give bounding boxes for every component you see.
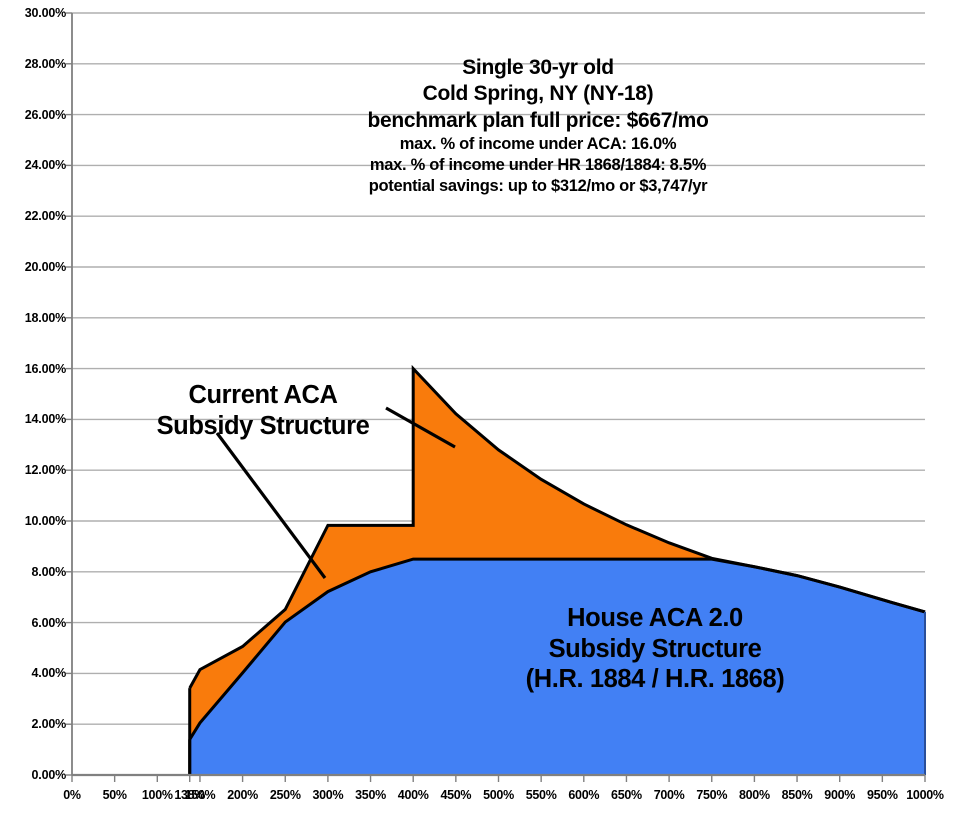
y-tick-label: 24.00%	[4, 159, 66, 172]
chart-title-line: potential savings: up to $312/mo or $3,7…	[238, 176, 838, 197]
x-tick-label: 800%	[739, 789, 770, 802]
x-tick-label: 100%	[142, 789, 173, 802]
x-tick-label: 300%	[313, 789, 344, 802]
x-tick-label: 900%	[824, 789, 855, 802]
y-tick-label: 6.00%	[4, 617, 66, 630]
x-tick-label: 200%	[227, 789, 258, 802]
y-tick-label: 28.00%	[4, 58, 66, 71]
x-tick-label: 1000%	[906, 789, 943, 802]
chart-title-line: Cold Spring, NY (NY-18)	[238, 81, 838, 107]
chart-container: 0.00%2.00%4.00%6.00%8.00%10.00%12.00%14.…	[0, 0, 954, 816]
y-tick-label: 10.00%	[4, 515, 66, 528]
y-tick-label: 22.00%	[4, 210, 66, 223]
y-tick-label: 18.00%	[4, 312, 66, 325]
x-tick-label: 650%	[611, 789, 642, 802]
chart-title-line: Single 30-yr old	[238, 55, 838, 81]
y-tick-label: 12.00%	[4, 464, 66, 477]
y-tick-label: 2.00%	[4, 718, 66, 731]
x-tick-label: 950%	[867, 789, 898, 802]
x-tick-label: 500%	[483, 789, 514, 802]
x-tick-label: 550%	[526, 789, 557, 802]
y-tick-label: 14.00%	[4, 413, 66, 426]
annotation-line: Subsidy Structure	[470, 634, 840, 665]
y-tick-label: 30.00%	[4, 7, 66, 20]
y-tick-label: 20.00%	[4, 261, 66, 274]
chart-title-line: max. % of income under HR 1868/1884: 8.5…	[238, 155, 838, 176]
x-tick-label: 250%	[270, 789, 301, 802]
leader-line-0	[217, 433, 325, 578]
x-tick-label: 600%	[568, 789, 599, 802]
x-tick-label: 350%	[355, 789, 386, 802]
x-tick-label: 750%	[696, 789, 727, 802]
chart-title: Single 30-yr oldCold Spring, NY (NY-18)b…	[238, 55, 838, 197]
y-tick-label: 0.00%	[4, 769, 66, 782]
y-tick-label: 26.00%	[4, 109, 66, 122]
annotation-line: (H.R. 1884 / H.R. 1868)	[470, 664, 840, 695]
annotation-current-aca: Current ACASubsidy Structure	[118, 380, 408, 441]
y-tick-label: 16.00%	[4, 363, 66, 376]
chart-title-line: benchmark plan full price: $667/mo	[238, 108, 838, 134]
annotation-line: House ACA 2.0	[470, 603, 840, 634]
y-tick-label: 4.00%	[4, 667, 66, 680]
x-tick-label: 400%	[398, 789, 429, 802]
x-tick-label: 700%	[654, 789, 685, 802]
x-tick-label: 0%	[63, 789, 80, 802]
x-tick-label: 150%	[185, 789, 216, 802]
x-tick-label: 50%	[103, 789, 127, 802]
annotation-house-aca: House ACA 2.0Subsidy Structure(H.R. 1884…	[470, 603, 840, 695]
annotation-line: Current ACA	[118, 380, 408, 411]
y-tick-label: 8.00%	[4, 566, 66, 579]
annotation-line: Subsidy Structure	[118, 411, 408, 442]
x-tick-label: 850%	[782, 789, 813, 802]
chart-title-line: max. % of income under ACA: 16.0%	[238, 134, 838, 155]
x-tick-label: 450%	[440, 789, 471, 802]
